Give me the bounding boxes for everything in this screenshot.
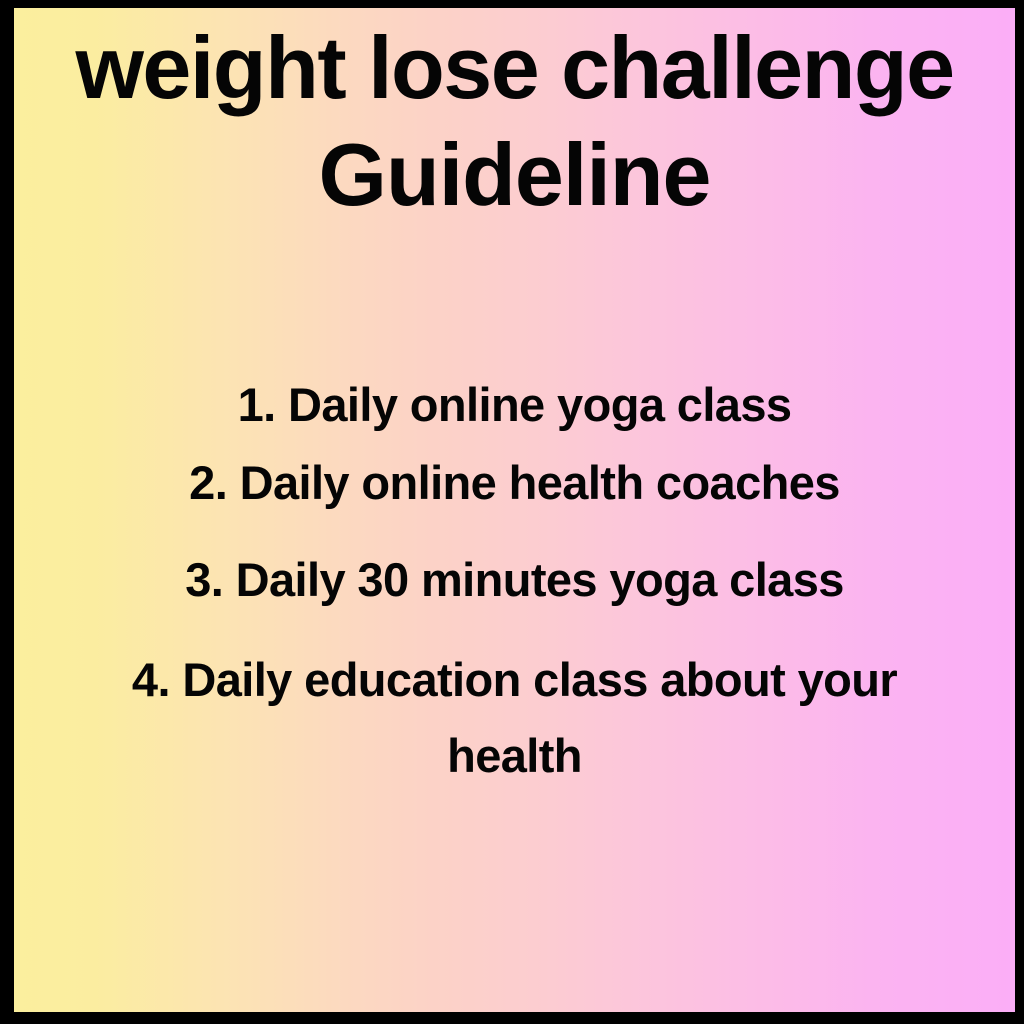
poster-title-line-1: weight lose challenge (14, 14, 1015, 121)
poster-title-line-2: Guideline (14, 121, 1015, 228)
guideline-item-3: 3. Daily 30 minutes yoga class (185, 548, 844, 612)
guideline-list: 1. Daily online yoga class 2. Daily onli… (14, 373, 1015, 794)
poster-card: weight lose challenge Guideline 1. Daily… (14, 8, 1015, 1012)
guideline-item-2: 2. Daily online health coaches (189, 451, 840, 515)
guideline-item-4: 4. Daily education class about your heal… (95, 642, 935, 794)
poster-title: weight lose challenge Guideline (14, 14, 1015, 228)
weight-loss-guideline-poster: weight lose challenge Guideline 1. Daily… (0, 0, 1024, 1024)
guideline-item-1: 1. Daily online yoga class (238, 373, 792, 437)
